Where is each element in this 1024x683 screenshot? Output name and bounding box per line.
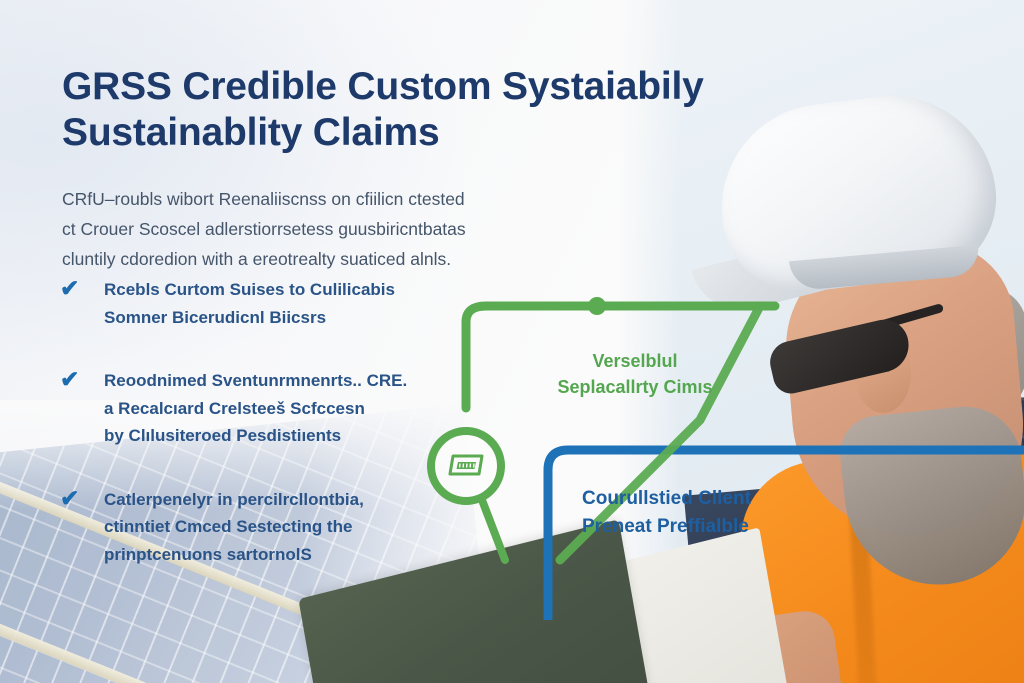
blue-branch-label: Courullstied Cllent Preneat Preffialble xyxy=(582,485,812,540)
title-line-1: GRSS Credible Custom Systaiabily xyxy=(62,64,722,110)
list-item: ✔ Rcebls Curtom Suises to Culilicabis So… xyxy=(58,276,458,331)
list-item-line: Rcebls Curtom Suises to Culilicabis xyxy=(104,276,458,304)
list-item: ✔ Reoodnimed Sventunrmnenrts.. CRE. a Re… xyxy=(58,367,458,450)
list-item-line: Somner Bicerudicnl Biicsrs xyxy=(104,304,458,332)
check-icon: ✔ xyxy=(60,277,86,301)
list-item-line: prinptcenuons sartornolS xyxy=(104,541,458,569)
list-item-line: Reoodnimed Sventunrmnenrts.. CRE. xyxy=(104,367,458,395)
list-item-text: Catlerpenelyr in percilrcllontbia, ctinn… xyxy=(104,486,458,569)
green-branch-label: Verselblul Seplacallrty Cimıs xyxy=(530,348,740,400)
list-item-line: by Clılusiteroed Pesdistiıents xyxy=(104,422,458,450)
list-item: ✔ Catlerpenelyr in percilrcllontbia, cti… xyxy=(58,486,458,569)
list-item-line: a Recalcıard Crelsteeš Scfccesn xyxy=(104,395,458,423)
intro-paragraph: CRfU–roubls wibort Reenaliiscnss on cfii… xyxy=(62,184,607,274)
paragraph-line-3: cluntily cdoredion with a ereotrealty su… xyxy=(62,244,607,274)
green-label-line: Verselblul xyxy=(530,348,740,374)
list-item-line: Catlerpenelyr in percilrcllontbia, xyxy=(104,486,458,514)
page-title: GRSS Credible Custom Systaiabily Sustain… xyxy=(62,64,722,155)
list-item-text: Rcebls Curtom Suises to Culilicabis Somn… xyxy=(104,276,458,331)
icon-node-leader-line xyxy=(482,500,505,560)
green-label-line: Seplacallrty Cimıs xyxy=(530,374,740,400)
paragraph-line-2: ct Crouer Scoscel adlerstiorrsetess guus… xyxy=(62,214,607,244)
check-icon: ✔ xyxy=(60,487,86,511)
title-line-2: Sustainablity Claims xyxy=(62,110,722,156)
list-item-text: Reoodnimed Sventunrmnenrts.. CRE. a Reca… xyxy=(104,367,458,450)
blue-label-line: Courullstied Cllent xyxy=(582,485,812,513)
blue-label-line: Preneat Preffialble xyxy=(582,513,812,541)
bullet-list: ✔ Rcebls Curtom Suises to Culilicabis So… xyxy=(58,276,458,604)
check-icon: ✔ xyxy=(60,368,86,392)
infographic-canvas: GRSS Credible Custom Systaiabily Sustain… xyxy=(0,0,1024,683)
paragraph-line-1: CRfU–roubls wibort Reenaliiscnss on cfii… xyxy=(62,184,607,214)
list-item-line: ctinntiet Cmced Sestecting the xyxy=(104,513,458,541)
green-node-dot xyxy=(588,297,606,315)
